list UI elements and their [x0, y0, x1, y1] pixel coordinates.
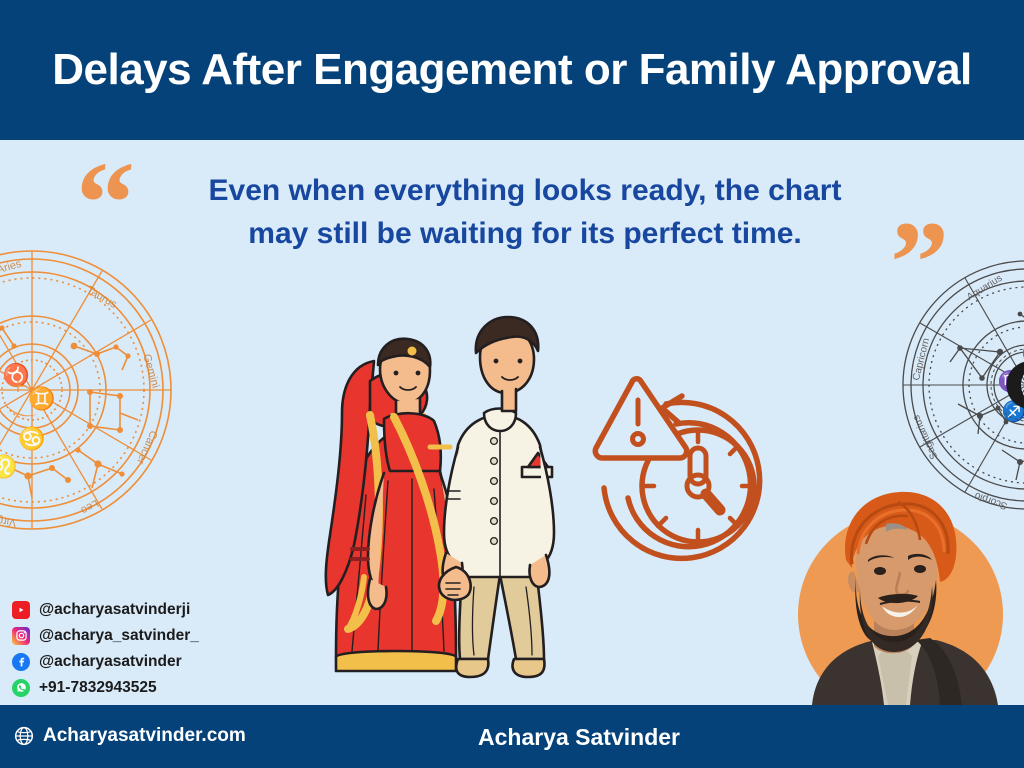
facebook-icon [12, 653, 30, 671]
footer-bar: Acharyasatvinder.com Acharya Satvinder [0, 705, 1024, 768]
social-handle-youtube: @acharyasatvinderji [39, 601, 190, 619]
svg-text:Cancer: Cancer [134, 429, 160, 467]
acharya-satvinder-portrait [760, 480, 1024, 705]
social-link-instagram[interactable]: @acharya_satvinder_ [12, 624, 262, 647]
quote-close-icon: ” [890, 204, 949, 322]
svg-text:Virgo: Virgo [0, 513, 17, 528]
social-link-youtube[interactable]: @acharyasatvinderji [12, 598, 262, 621]
whatsapp-icon [12, 679, 30, 697]
social-link-facebook[interactable]: @acharyasatvinder [12, 650, 262, 673]
footer-website-text: Acharyasatvinder.com [43, 725, 246, 747]
svg-text:♌: ♌ [0, 454, 18, 479]
globe-icon [14, 726, 34, 746]
quote-open-icon: “ [76, 144, 135, 262]
quote-block: “ Even when everything looks ready, the … [0, 154, 1024, 284]
poster-root: Delays After Engagement or Family Approv… [0, 0, 1024, 768]
quote-line-2: may still be waiting for its perfect tim… [160, 213, 890, 256]
social-link-whatsapp[interactable]: +91-7832943525 [12, 676, 262, 699]
avatar [760, 480, 1024, 705]
youtube-icon [12, 601, 30, 619]
quote-text: Even when everything looks ready, the ch… [160, 170, 890, 255]
footer-author-name: Acharya Satvinder [478, 724, 680, 751]
footer-website-link[interactable]: Acharyasatvinder.com [14, 725, 246, 747]
poster-body: ♈ ♉ ♊ ♋ ♌ ♍ Aries Taurus Gemini Cancer L… [0, 140, 1024, 705]
svg-text:♊: ♊ [28, 386, 55, 411]
social-handle-instagram: @acharya_satvinder_ [39, 627, 199, 645]
social-handle-whatsapp: +91-7832943525 [39, 679, 157, 697]
header-banner: Delays After Engagement or Family Approv… [0, 0, 1024, 140]
indian-wedding-couple-illustration [244, 295, 584, 695]
zodiac-wheel-orange-icon: ♈ ♉ ♊ ♋ ♌ ♍ Aries Taurus Gemini Cancer L… [0, 250, 172, 530]
page-title: Delays After Engagement or Family Approv… [52, 45, 972, 95]
instagram-icon [12, 627, 30, 645]
svg-text:♋: ♋ [18, 426, 45, 451]
social-handle-facebook: @acharyasatvinder [39, 653, 182, 671]
social-links-list: @acharyasatvinderji @acharya_satvinder_ … [12, 598, 262, 702]
quote-line-1: Even when everything looks ready, the ch… [160, 170, 890, 213]
